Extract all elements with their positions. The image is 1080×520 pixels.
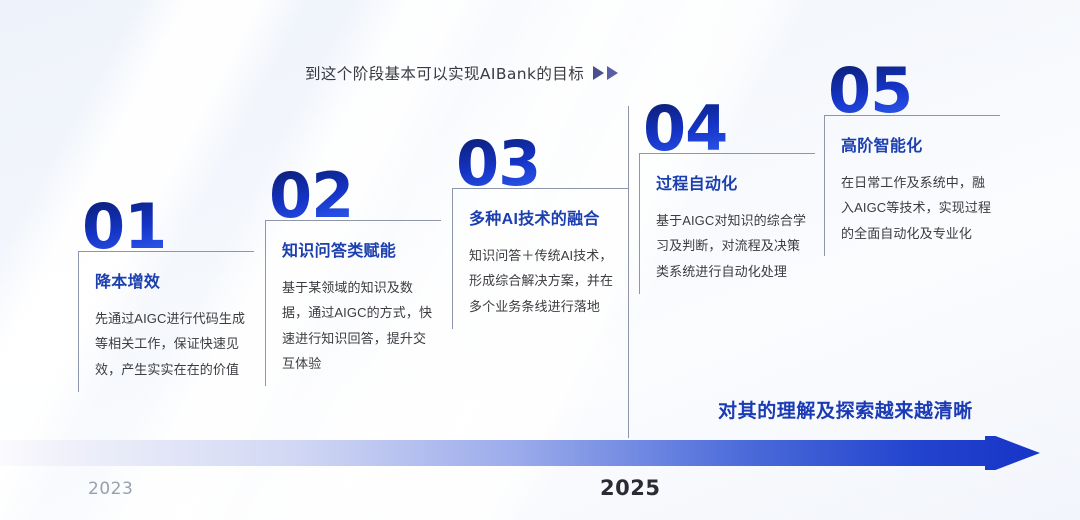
watermark-text [856,505,860,520]
step-title: 降本增效 [95,268,248,292]
timeline-arrow [0,436,1080,470]
step-card-body: 高阶智能化 在日常工作及系统中，融入AIGC等技术，实现过程的全面自动化及专业化 [824,115,1000,256]
step-card-body: 过程自动化 基于AIGC对知识的综合学习及判断，对流程及决策类系统进行自动化处理 [639,153,815,294]
step-card-01[interactable]: 01 降本增效 先通过AIGC进行代码生成等相关工作，保证快速见效，产生实实在在… [78,198,254,392]
step-number: 02 [265,167,441,224]
year-marker-line [628,106,629,438]
banner-callout: 到这个阶段基本可以实现AIBank的目标 [305,62,618,84]
banner-text: 到这个阶段基本可以实现AIBank的目标 [305,62,584,84]
step-title: 过程自动化 [656,170,809,194]
step-description: 基于AIGC对知识的综合学习及判断，对流程及决策类系统进行自动化处理 [656,208,809,284]
year-label-start: 2023 [88,479,133,499]
step-card-03[interactable]: 03 多种AI技术的融合 知识问答＋传统AI技术，形成综合解决方案，并在多个业务… [452,135,628,329]
step-card-02[interactable]: 02 知识问答类赋能 基于某领域的知识及数据，通过AIGC的方式，快速进行知识回… [265,167,441,386]
step-title: 知识问答类赋能 [282,237,435,261]
step-number: 03 [452,135,628,192]
step-title: 多种AI技术的融合 [469,205,622,229]
step-description: 基于某领域的知识及数据，通过AIGC的方式，快速进行知识回答，提升交互体验 [282,275,435,376]
step-card-05[interactable]: 05 高阶智能化 在日常工作及系统中，融入AIGC等技术，实现过程的全面自动化及… [824,62,1000,256]
step-number: 01 [78,198,254,255]
step-card-body: 降本增效 先通过AIGC进行代码生成等相关工作，保证快速见效，产生实实在在的价值 [78,251,254,392]
step-card-body: 多种AI技术的融合 知识问答＋传统AI技术，形成综合解决方案，并在多个业务条线进… [452,188,628,329]
timeline-tagline: 对其的理解及探索越来越清晰 [718,396,973,423]
step-title: 高阶智能化 [841,132,994,156]
step-card-04[interactable]: 04 过程自动化 基于AIGC对知识的综合学习及判断，对流程及决策类系统进行自动… [639,100,815,294]
step-number: 05 [824,62,1000,119]
step-description: 知识问答＋传统AI技术，形成综合解决方案，并在多个业务条线进行落地 [469,243,622,319]
double-chevron-right-icon [593,66,618,80]
step-description: 在日常工作及系统中，融入AIGC等技术，实现过程的全面自动化及专业化 [841,170,994,246]
step-description: 先通过AIGC进行代码生成等相关工作，保证快速见效，产生实实在在的价值 [95,306,248,382]
slide-canvas: 到这个阶段基本可以实现AIBank的目标 01 降本增效 先通过AIGC进行代码… [0,0,1080,520]
step-number: 04 [639,100,815,157]
year-label-mid: 2025 [600,476,660,500]
step-card-body: 知识问答类赋能 基于某领域的知识及数据，通过AIGC的方式，快速进行知识回答，提… [265,220,441,386]
